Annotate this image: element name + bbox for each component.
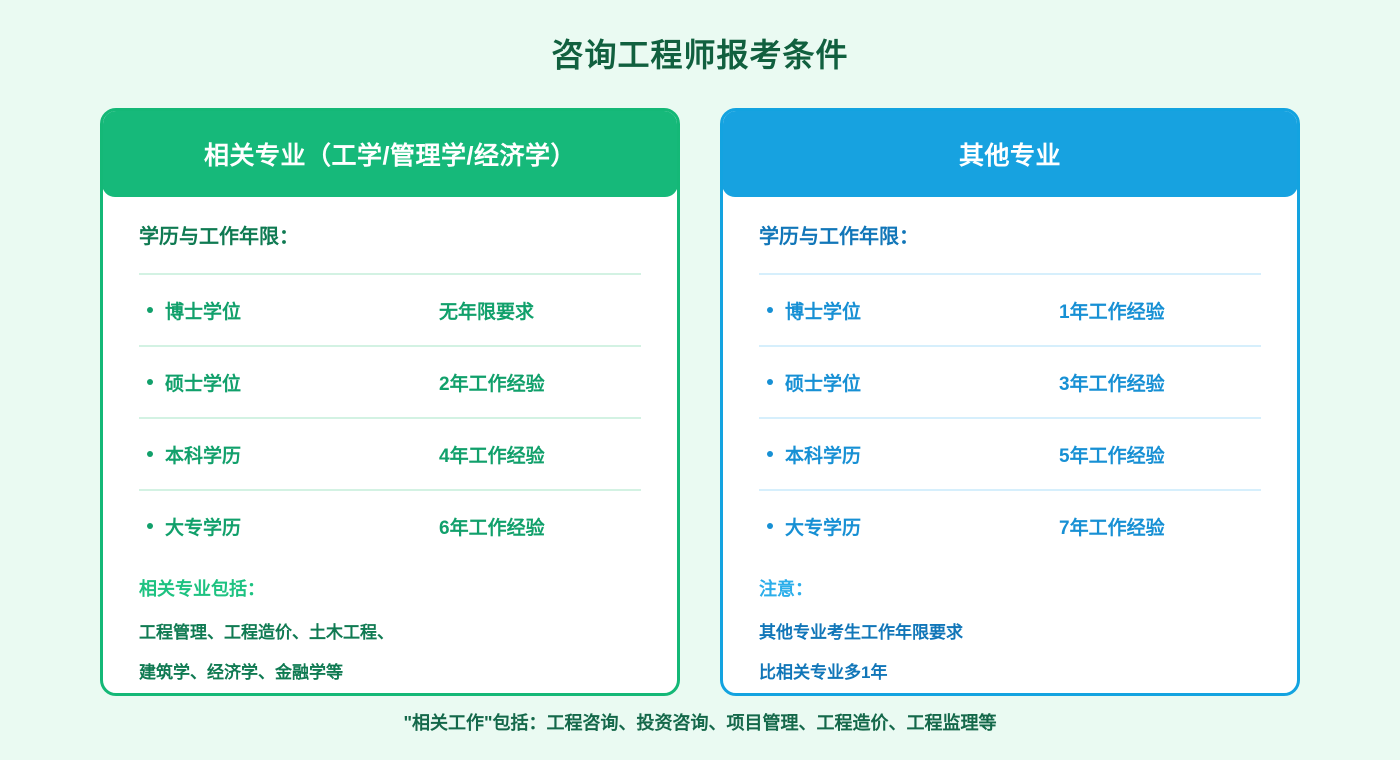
bullet-icon	[147, 451, 153, 457]
table-row: 硕士学位 2年工作经验	[139, 345, 641, 417]
card-related-major: 相关专业（工学/管理学/经济学） 学历与工作年限： 博士学位 无年限要求	[100, 108, 680, 696]
bullet-icon	[767, 523, 773, 529]
footer-line: 建筑学、经济学、金融学等	[139, 653, 641, 693]
footer-line: 其他专业考生工作年限要求	[759, 613, 1261, 653]
experience-value: 1年工作经验	[1059, 297, 1261, 324]
bullet-icon	[767, 307, 773, 313]
table-row: 硕士学位 3年工作经验	[759, 345, 1261, 417]
degree-label: 大专学历	[785, 518, 861, 539]
card-header-title: 相关专业（工学/管理学/经济学）	[204, 136, 576, 172]
experience-value: 5年工作经验	[1059, 441, 1261, 468]
row-label: 本科学历	[759, 441, 1059, 468]
row-label: 硕士学位	[759, 369, 1059, 396]
infographic-page: 咨询工程师报考条件 相关专业（工学/管理学/经济学） 学历与工作年限： 博士学位…	[0, 0, 1400, 760]
experience-value: 无年限要求	[439, 297, 641, 324]
row-label: 博士学位	[759, 297, 1059, 324]
table-row: 本科学历 5年工作经验	[759, 417, 1261, 489]
bottom-note: "相关工作"包括：工程咨询、投资咨询、项目管理、工程造价、工程监理等	[0, 708, 1400, 738]
row-label: 博士学位	[139, 297, 439, 324]
card-body-related-major: 学历与工作年限： 博士学位 无年限要求 硕士学位	[103, 197, 677, 693]
experience-value: 3年工作经验	[1059, 369, 1261, 396]
requirement-rows: 博士学位 1年工作经验 硕士学位 3年工作经验	[759, 273, 1261, 561]
table-row: 博士学位 1年工作经验	[759, 275, 1261, 345]
degree-label: 本科学历	[785, 446, 861, 467]
degree-label: 博士学位	[785, 302, 861, 323]
experience-value: 7年工作经验	[1059, 513, 1261, 540]
bullet-icon	[147, 523, 153, 529]
card-other-major: 其他专业 学历与工作年限： 博士学位 1年工作经验	[720, 108, 1300, 696]
card-footer-related-major: 相关专业包括： 工程管理、工程造价、土木工程、 建筑学、经济学、金融学等	[139, 561, 641, 693]
experience-value: 6年工作经验	[439, 513, 641, 540]
bullet-icon	[147, 307, 153, 313]
degree-label: 大专学历	[165, 518, 241, 539]
bullet-icon	[147, 379, 153, 385]
degree-label: 本科学历	[165, 446, 241, 467]
card-footer-other-major: 注意： 其他专业考生工作年限要求 比相关专业多1年	[759, 561, 1261, 693]
experience-value: 4年工作经验	[439, 441, 641, 468]
table-row: 大专学历 6年工作经验	[139, 489, 641, 561]
section-label-education-years: 学历与工作年限：	[759, 197, 1261, 257]
bullet-icon	[767, 451, 773, 457]
experience-value: 2年工作经验	[439, 369, 641, 396]
footer-title: 相关专业包括：	[139, 573, 641, 613]
degree-label: 硕士学位	[785, 374, 861, 395]
row-label: 硕士学位	[139, 369, 439, 396]
card-header-related-major: 相关专业（工学/管理学/经济学）	[102, 110, 678, 197]
requirement-rows: 博士学位 无年限要求 硕士学位 2年工作经验	[139, 273, 641, 561]
card-header-other-major: 其他专业	[722, 110, 1298, 197]
footer-line: 工程管理、工程造价、土木工程、	[139, 613, 641, 653]
footer-title: 注意：	[759, 573, 1261, 613]
row-label: 本科学历	[139, 441, 439, 468]
row-label: 大专学历	[139, 513, 439, 540]
card-header-title: 其他专业	[959, 136, 1061, 172]
degree-label: 博士学位	[165, 302, 241, 323]
table-row: 大专学历 7年工作经验	[759, 489, 1261, 561]
bullet-icon	[767, 379, 773, 385]
degree-label: 硕士学位	[165, 374, 241, 395]
cards-container: 相关专业（工学/管理学/经济学） 学历与工作年限： 博士学位 无年限要求	[100, 108, 1300, 696]
row-label: 大专学历	[759, 513, 1059, 540]
footer-line: 比相关专业多1年	[759, 653, 1261, 693]
card-body-other-major: 学历与工作年限： 博士学位 1年工作经验 硕士学位	[723, 197, 1297, 693]
section-label-education-years: 学历与工作年限：	[139, 197, 641, 257]
table-row: 本科学历 4年工作经验	[139, 417, 641, 489]
table-row: 博士学位 无年限要求	[139, 275, 641, 345]
page-title: 咨询工程师报考条件	[0, 32, 1400, 78]
